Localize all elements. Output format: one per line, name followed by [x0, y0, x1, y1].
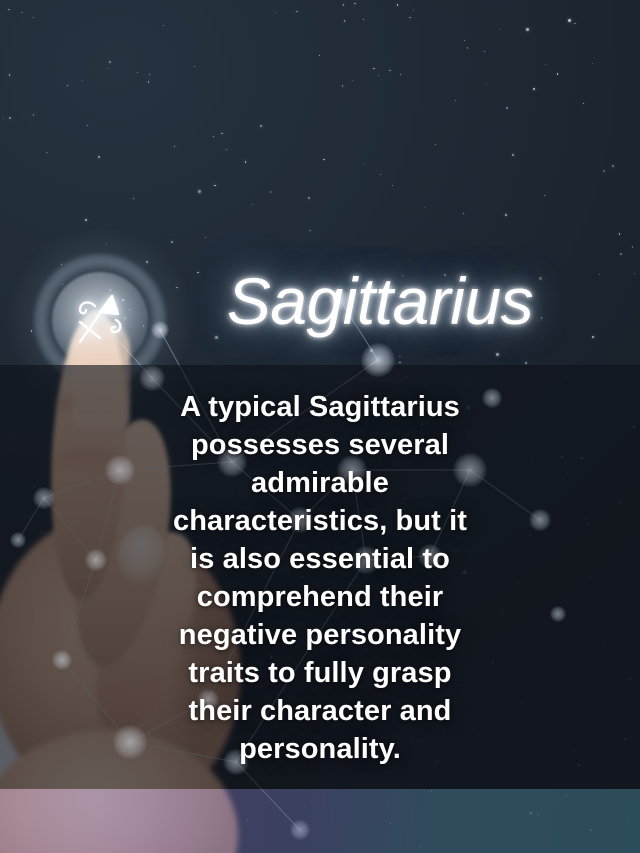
description-line: characteristics, but it — [160, 502, 480, 540]
constellation-node — [482, 388, 502, 408]
zodiac-poster: Sagittarius A typical Sagittariuspossess… — [0, 0, 640, 853]
description-line: their character and — [160, 692, 480, 730]
constellation-node — [113, 725, 147, 759]
constellation-node — [550, 606, 566, 622]
description-line: A typical Sagittarius — [160, 388, 480, 426]
constellation-node — [33, 487, 55, 509]
description-line: admirable — [160, 464, 480, 502]
description-line: personality. — [160, 730, 480, 768]
description-line: traits to fully grasp — [160, 654, 480, 692]
constellation-node — [10, 532, 26, 548]
page-title: Sagittarius — [0, 268, 640, 334]
constellation-node — [52, 650, 72, 670]
description-text: A typical Sagittariuspossesses severalad… — [160, 388, 480, 768]
constellation-node — [85, 549, 107, 571]
constellation-node — [290, 820, 310, 840]
constellation-node — [529, 509, 551, 531]
description-line: comprehend their — [160, 578, 480, 616]
constellation-node — [361, 343, 395, 377]
description-line: negative personality — [160, 616, 480, 654]
description-line: is also essential to — [160, 540, 480, 578]
constellation-node — [105, 455, 135, 485]
description-line: possesses several — [160, 426, 480, 464]
